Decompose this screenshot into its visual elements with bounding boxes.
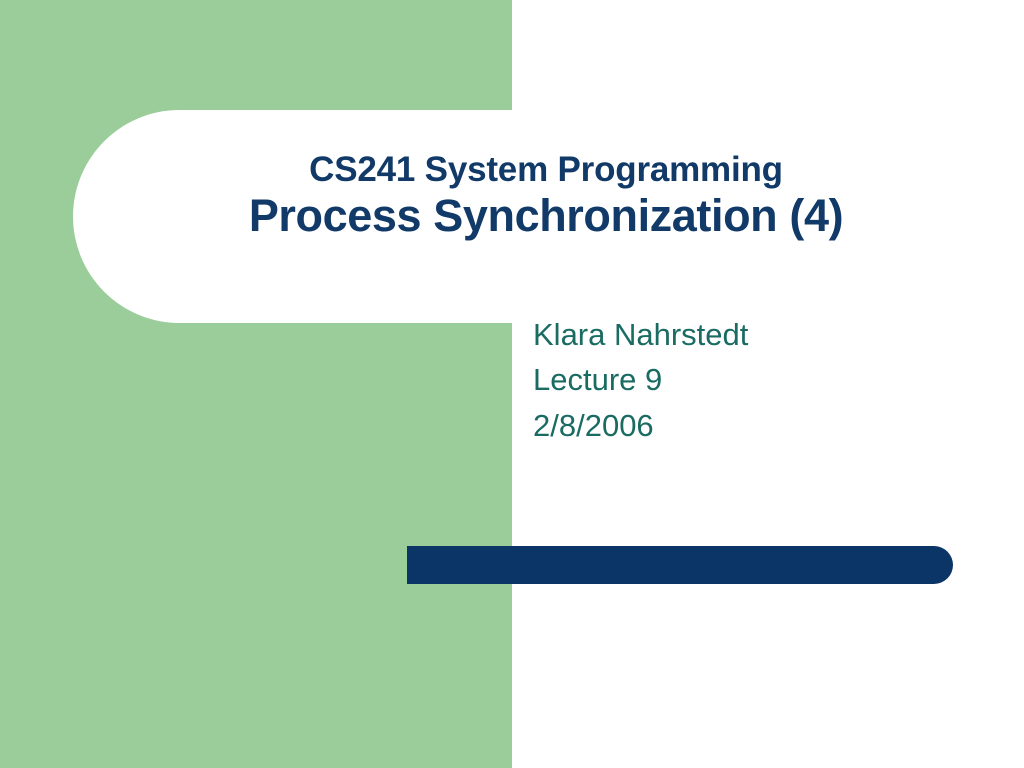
title-line-2: Process Synchronization (4): [96, 193, 996, 238]
slide-subtitle: Klara Nahrstedt Lecture 9 2/8/2006: [533, 312, 748, 448]
slide-title: CS241 System Programming Process Synchro…: [96, 152, 996, 238]
title-line-1: CS241 System Programming: [96, 152, 996, 187]
subtitle-author: Klara Nahrstedt: [533, 312, 748, 357]
subtitle-date: 2/8/2006: [533, 403, 748, 448]
subtitle-lecture: Lecture 9: [533, 357, 748, 402]
navy-accent-bar: [407, 546, 953, 584]
title-slide: CS241 System Programming Process Synchro…: [0, 0, 1024, 768]
